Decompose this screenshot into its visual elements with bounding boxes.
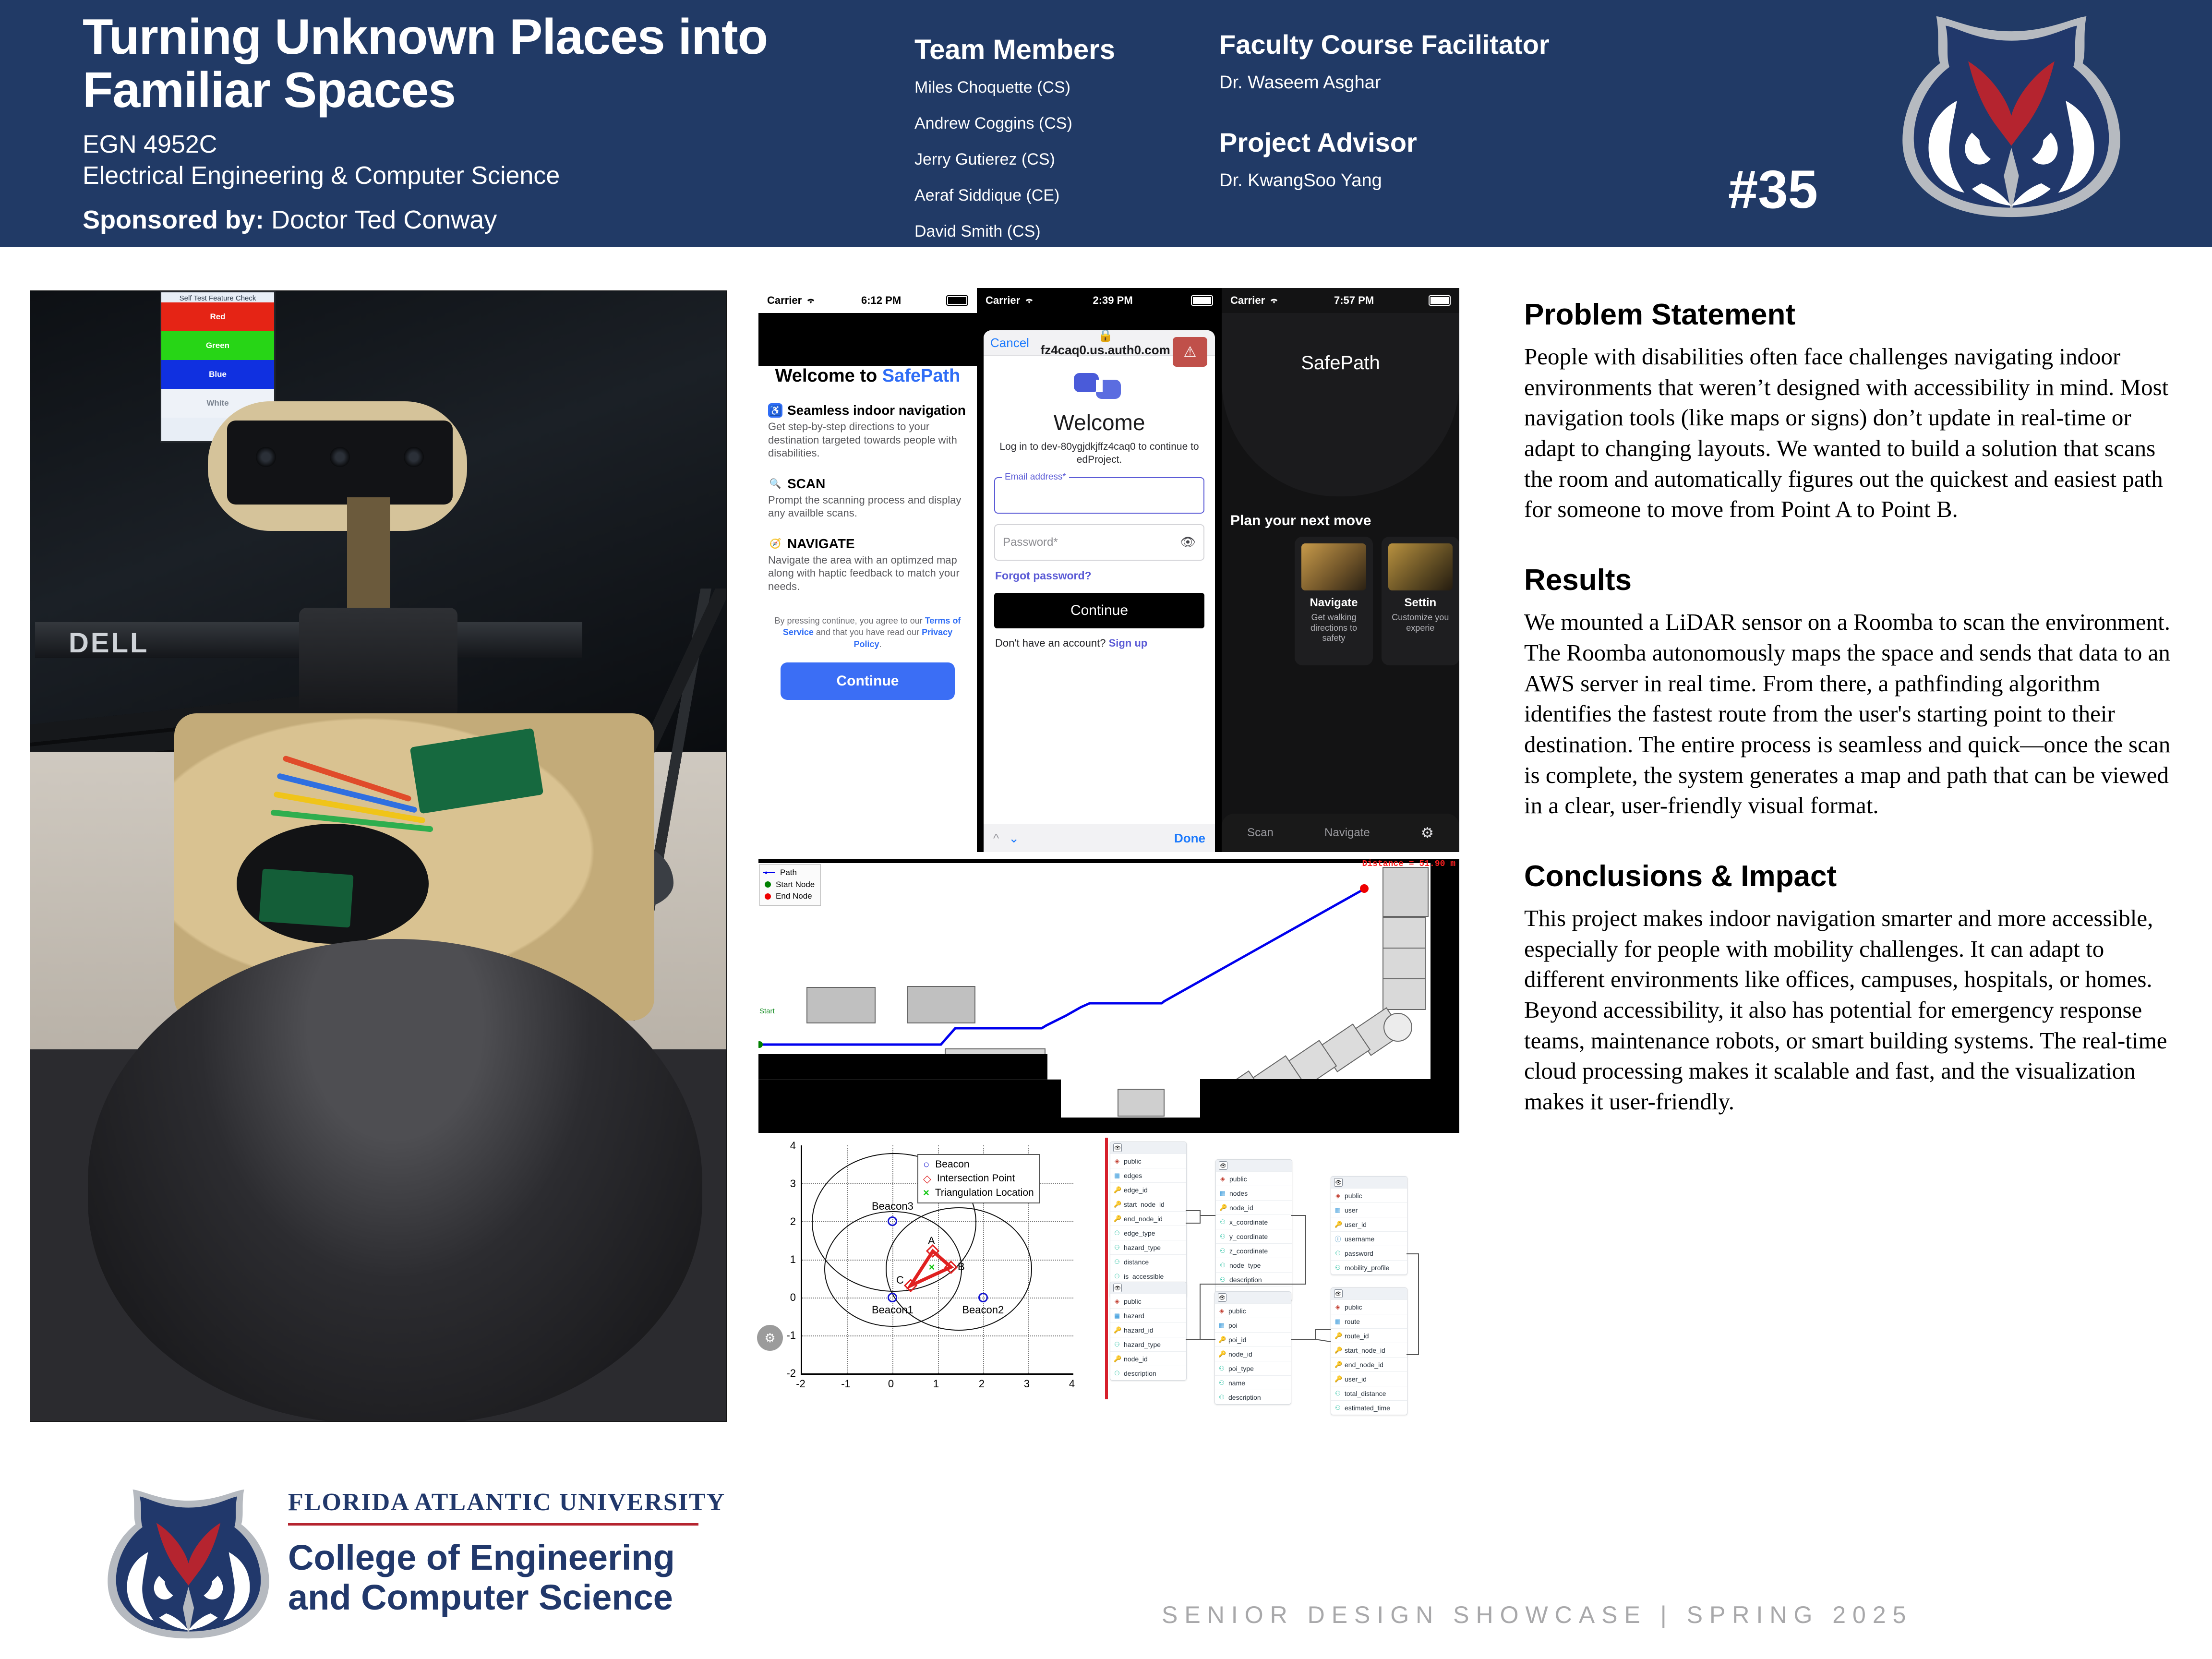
er-column: 🔑node_id xyxy=(1216,1200,1292,1214)
er-table-header: 👁 xyxy=(1110,1142,1186,1154)
self-test-title: Self Test Feature Check xyxy=(161,292,274,302)
feature-desc: Prompt the scanning process and display … xyxy=(768,493,967,520)
page-title: Turning Unknown Places into Familiar Spa… xyxy=(83,11,831,118)
feature-title: NAVIGATE xyxy=(787,536,855,552)
er-schema-row: ◈public xyxy=(1110,1154,1186,1168)
screenshot-tool-icon: ⚙ xyxy=(757,1325,783,1351)
battery-icon xyxy=(1429,295,1451,306)
signup-prompt: Don't have an account? xyxy=(995,637,1106,649)
er-column: ⚇hazard_type xyxy=(1110,1240,1186,1254)
er-schema-row: ◈public xyxy=(1331,1188,1407,1202)
tab-navigate[interactable]: Navigate xyxy=(1324,826,1370,840)
primary-key-icon: 🔑 xyxy=(1114,1186,1120,1194)
table-icon: ▦ xyxy=(1218,1322,1225,1329)
login-continue-button[interactable]: Continue xyxy=(994,593,1204,628)
ytick: 3 xyxy=(782,1178,796,1190)
foreign-key-icon: 🔑 xyxy=(1218,1350,1225,1358)
tab-scan[interactable]: Scan xyxy=(1247,826,1274,840)
feature-item: 🧭 NAVIGATE Navigate the area with an opt… xyxy=(768,536,967,593)
cancel-button[interactable]: Cancel xyxy=(990,336,1029,350)
title-block: Turning Unknown Places into Familiar Spa… xyxy=(83,11,831,235)
eye-icon[interactable]: 👁 xyxy=(1180,535,1196,550)
legend-item-triangulation: × Triangulation Location xyxy=(923,1186,1034,1200)
table-icon: ▦ xyxy=(1334,1206,1341,1214)
er-column: 🔑edge_id xyxy=(1110,1182,1186,1197)
sponsor-name: Doctor Ted Conway xyxy=(271,205,497,234)
team-member: Jerry Gutierez (CS) xyxy=(914,150,1193,169)
hide-icon[interactable]: 👁 xyxy=(1218,1293,1226,1302)
primary-key-icon: 🔑 xyxy=(1114,1326,1120,1334)
er-column: 🔑route_id xyxy=(1331,1328,1407,1343)
er-table-name-row: ▦user xyxy=(1331,1202,1407,1217)
start-node-swatch xyxy=(765,881,771,888)
er-column: ⚇edge_type xyxy=(1110,1226,1186,1240)
fau-owl-logo-icon xyxy=(1863,14,2160,221)
xtick: 4 xyxy=(1069,1378,1075,1390)
er-table-header: 👁 xyxy=(1331,1177,1407,1188)
section-heading: Results xyxy=(1524,563,2187,597)
field-icon: ⚇ xyxy=(1114,1341,1120,1348)
floorplan-path-visualization: Path Start Node End Node Start xyxy=(758,859,1459,1133)
er-schema-row: ◈public xyxy=(1216,1171,1292,1186)
table-icon: ▦ xyxy=(1114,1172,1120,1179)
tab-bar: Scan Navigate ⚙ xyxy=(1222,814,1459,852)
camera-mast xyxy=(347,497,390,622)
map-canvas: Path Start Node End Node Start xyxy=(758,863,1431,1118)
feature-item: ♿ Seamless indoor navigation Get step-by… xyxy=(768,403,967,460)
xtick: -1 xyxy=(841,1378,851,1390)
er-column: ⚇is_accessible xyxy=(1110,1269,1186,1283)
primary-key-icon: 🔑 xyxy=(1219,1204,1226,1212)
er-table-nodes: 👁 ◈public ▦nodes 🔑node_id ⚇x_coordinate … xyxy=(1215,1159,1292,1301)
er-column: 🔑start_node_id xyxy=(1110,1197,1186,1211)
legend-item-intersection: ◇ Intersection Point xyxy=(923,1172,1034,1186)
login-heading: Welcome xyxy=(984,409,1215,435)
legend-label: Start Node xyxy=(776,879,815,891)
er-schema-row: ◈public xyxy=(1110,1294,1186,1308)
accessibility-icon: ♿ xyxy=(768,403,782,418)
chevron-down-icon[interactable]: ⌄ xyxy=(1009,831,1019,846)
hide-icon[interactable]: 👁 xyxy=(1334,1289,1343,1298)
chart-legend: ○ Beacon ◇ Intersection Point × Triangul… xyxy=(917,1154,1040,1203)
terms-part-3: . xyxy=(879,639,882,649)
field-icon: ⚇ xyxy=(1218,1379,1225,1387)
email-label: Email address* xyxy=(1002,472,1069,482)
legend-label: Beacon xyxy=(935,1158,969,1171)
camera-lens-left xyxy=(256,447,276,467)
team-member: David Smith (CS) xyxy=(914,222,1193,241)
field-icon: ⚇ xyxy=(1219,1262,1226,1269)
xtick: 1 xyxy=(933,1378,939,1390)
home-screen: SafePath Plan your next move Navigate Ge… xyxy=(1222,313,1459,852)
chevron-up-icon[interactable]: ^ xyxy=(993,831,999,846)
table-icon: ▦ xyxy=(1114,1312,1120,1320)
legend-label: Path xyxy=(780,867,797,879)
primary-key-icon: 🔑 xyxy=(1334,1221,1341,1228)
email-field[interactable]: Email address* xyxy=(994,477,1204,514)
section-title: Plan your next move xyxy=(1230,513,1459,529)
er-schema-row: ◈public xyxy=(1331,1299,1407,1314)
showcase-label: SENIOR DESIGN SHOWCASE | SPRING 2025 xyxy=(1162,1601,1912,1629)
wifi-icon xyxy=(805,297,816,304)
depth-camera xyxy=(227,421,453,505)
continue-button[interactable]: Continue xyxy=(781,662,955,700)
er-column: ⚇distance xyxy=(1110,1254,1186,1269)
er-column: ⚇hazard_type xyxy=(1110,1337,1186,1351)
college-line-1: College of Engineering xyxy=(288,1538,725,1578)
status-left: Carrier xyxy=(986,294,1034,307)
field-icon: ⚇ xyxy=(1114,1273,1120,1280)
section-body: This project makes indoor navigation sma… xyxy=(1524,903,2187,1117)
app-title: SafePath xyxy=(1301,352,1380,374)
hide-icon[interactable]: 👁 xyxy=(1334,1178,1343,1187)
field-icon: ⚇ xyxy=(1114,1229,1120,1237)
er-table-name-row: ▦hazard xyxy=(1110,1308,1186,1322)
divider xyxy=(288,1523,698,1526)
settings-card-title: Settin xyxy=(1388,596,1453,610)
xtick: -2 xyxy=(796,1378,805,1390)
foreign-key-icon: 🔑 xyxy=(1334,1375,1341,1383)
triangulation-location-marker: × xyxy=(929,1261,935,1274)
status-bar: Carrier 2:39 PM xyxy=(977,288,1222,313)
primary-key-icon: 🔑 xyxy=(1334,1332,1341,1340)
er-column: ⚇description xyxy=(1110,1366,1186,1380)
feature-item: 🔍 SCAN Prompt the scanning process and d… xyxy=(768,476,967,520)
foreign-key-icon: 🔑 xyxy=(1334,1361,1341,1369)
lock-icon: 🔒 xyxy=(1097,330,1113,342)
er-column: ⓘusername xyxy=(1331,1231,1407,1246)
schema-icon: ◈ xyxy=(1334,1192,1341,1200)
navigate-card-image xyxy=(1301,543,1366,590)
terms-text: By pressing continue, you agree to our T… xyxy=(773,615,962,650)
field-icon: ⚇ xyxy=(1218,1365,1225,1372)
poster-header: Turning Unknown Places into Familiar Spa… xyxy=(0,0,2212,247)
settings-card-desc: Customize you experie xyxy=(1388,613,1453,633)
terms-part-2: and that you have read our xyxy=(814,627,922,637)
primary-key-icon: 🔑 xyxy=(1218,1336,1225,1344)
phone-screenshot-onboarding: Carrier 6:12 PM Welcome to SafePath ♿ Se… xyxy=(758,288,977,852)
action-cards: Navigate Get walking directions to safet… xyxy=(1222,537,1459,665)
camera-lens-right xyxy=(404,447,424,467)
er-column: 🔑node_id xyxy=(1215,1346,1291,1361)
field-icon: ⚇ xyxy=(1218,1394,1225,1401)
feature-desc: Get step-by-step directions to your dest… xyxy=(768,420,967,460)
ytick: -2 xyxy=(782,1367,796,1380)
er-column: ⚇y_coordinate xyxy=(1216,1229,1292,1243)
field-icon: ⚇ xyxy=(1219,1233,1226,1240)
triangulation-chart: Beacon1 Beacon2 Beacon3 A B C × ○ Beacon… xyxy=(758,1138,1090,1411)
university-name: FLORIDA ATLANTIC UNIVERSITY xyxy=(288,1488,725,1516)
map-void-right xyxy=(1200,1079,1431,1118)
beacon-1-marker xyxy=(888,1293,897,1302)
advisor-name: Dr. KwangSoo Yang xyxy=(1219,170,1603,191)
field-icon: ⚇ xyxy=(1114,1244,1120,1251)
wifi-icon xyxy=(1269,297,1279,304)
title-line-2: Familiar Spaces xyxy=(83,64,831,117)
status-left: Carrier xyxy=(767,294,816,307)
team-member: Aeraf Siddique (CE) xyxy=(914,186,1193,205)
phone-screenshot-home: Carrier 7:57 PM SafePath Plan your next … xyxy=(1222,288,1459,852)
er-column: ⚇estimated_time xyxy=(1331,1400,1407,1415)
er-schema-row: ◈public xyxy=(1215,1303,1291,1318)
status-bar: Carrier 6:12 PM xyxy=(758,288,977,313)
legend-label: Intersection Point xyxy=(937,1172,1015,1185)
er-column: 🔑hazard_id xyxy=(1110,1322,1186,1337)
welcome-prefix: Welcome to xyxy=(775,366,882,386)
field-icon: ⚇ xyxy=(1114,1258,1120,1266)
navigate-card-desc: Get walking directions to safety xyxy=(1301,613,1366,644)
er-table-edges: 👁 ◈public ▦edges 🔑edge_id 🔑start_node_id… xyxy=(1110,1142,1187,1298)
password-field[interactable]: Password* 👁 xyxy=(994,524,1204,561)
er-column: 🔑end_node_id xyxy=(1331,1357,1407,1371)
welcome-heading: Welcome to SafePath xyxy=(758,366,977,386)
er-column: ⚇name xyxy=(1215,1375,1291,1390)
status-bar: Carrier 7:57 PM xyxy=(1222,288,1459,313)
er-column: ⚇description xyxy=(1216,1272,1292,1286)
field-icon: ⚇ xyxy=(1334,1390,1341,1397)
er-column: ⚇description xyxy=(1215,1390,1291,1404)
er-table-header: 👁 xyxy=(1216,1160,1292,1171)
app-hero: SafePath xyxy=(1222,313,1459,496)
schema-icon: ◈ xyxy=(1114,1298,1120,1305)
er-table-name-row: ▦poi xyxy=(1215,1318,1291,1332)
xtick: 2 xyxy=(979,1378,985,1390)
er-column: ⚇node_type xyxy=(1216,1258,1292,1272)
done-button[interactable]: Done xyxy=(1174,831,1205,846)
xtick: 3 xyxy=(1024,1378,1030,1390)
point-c-label: C xyxy=(896,1274,904,1286)
feature-title-row: ♿ Seamless indoor navigation xyxy=(768,403,967,418)
beacon-1-label: Beacon1 xyxy=(872,1304,914,1316)
navigate-card-title: Navigate xyxy=(1301,596,1366,610)
field-icon: ⚇ xyxy=(1219,1247,1226,1255)
college-line-2: and Computer Science xyxy=(288,1578,725,1618)
beacon-swatch: ○ xyxy=(923,1157,929,1172)
signup-row: Don't have an account? Sign up xyxy=(995,637,1215,649)
field-icon: ⚇ xyxy=(1334,1250,1341,1257)
er-table-name-row: ▦edges xyxy=(1110,1168,1186,1182)
er-column: 🔑poi_id xyxy=(1215,1332,1291,1346)
status-time: 2:39 PM xyxy=(1093,294,1133,307)
signup-link[interactable]: Sign up xyxy=(1109,637,1148,649)
field-icon: ⚇ xyxy=(1114,1370,1120,1377)
er-column: 🔑user_id xyxy=(1331,1217,1407,1231)
section-body: We mounted a LiDAR sensor on a Roomba to… xyxy=(1524,607,2187,821)
warning-icon: ⚠ xyxy=(1173,337,1207,367)
terms-part-1: By pressing continue, you agree to our xyxy=(775,616,925,625)
footer-wordmark: FLORIDA ATLANTIC UNIVERSITY College of E… xyxy=(288,1488,725,1618)
er-table-header: 👁 xyxy=(1110,1282,1186,1294)
section-conclusions: Conclusions & Impact This project makes … xyxy=(1524,859,2187,1117)
legend-item-beacon: ○ Beacon xyxy=(923,1157,1034,1172)
feature-title-row: 🔍 SCAN xyxy=(768,476,967,492)
url-text: 🔒 fz4caq0.us.auth0.com xyxy=(1036,330,1175,358)
auth0-logo-icon xyxy=(1073,372,1126,401)
beacon-3-label: Beacon3 xyxy=(872,1200,914,1213)
beacon-2-marker xyxy=(978,1293,988,1302)
keyboard-accessory-bar: ^ ⌄ Done xyxy=(984,824,1215,852)
legend-item-end: End Node xyxy=(763,890,815,902)
course-code: EGN 4952C xyxy=(83,129,831,160)
er-table-header: 👁 xyxy=(1215,1292,1291,1303)
feature-title: SCAN xyxy=(787,476,825,492)
navigate-card[interactable]: Navigate Get walking directions to safet… xyxy=(1295,537,1372,665)
onboarding-screen: Welcome to SafePath ♿ Seamless indoor na… xyxy=(758,366,977,852)
er-column: ⚇mobility_profile xyxy=(1331,1260,1407,1274)
er-table-user: 👁 ◈public ▦user 🔑user_id ⓘusername ⚇pass… xyxy=(1331,1176,1407,1275)
field-icon: ⚇ xyxy=(1334,1404,1341,1412)
team-members-column: Team Members Miles Choquette (CS) Andrew… xyxy=(914,34,1193,258)
point-b-label: B xyxy=(958,1261,965,1273)
hide-icon[interactable]: 👁 xyxy=(1113,1143,1122,1152)
foreign-key-icon: 🔑 xyxy=(1114,1215,1120,1223)
carrier-label: Carrier xyxy=(767,294,802,307)
er-table-hazard: 👁 ◈public ▦hazard 🔑hazard_id ⚇hazard_typ… xyxy=(1110,1282,1187,1381)
schema-accent-bar xyxy=(1105,1138,1108,1399)
battery-icon xyxy=(946,295,968,306)
status-time: 7:57 PM xyxy=(1334,294,1374,307)
legend-label: Triangulation Location xyxy=(935,1186,1034,1200)
password-placeholder: Password* xyxy=(1003,536,1058,549)
er-column: 🔑user_id xyxy=(1331,1371,1407,1386)
foreign-key-icon: 🔑 xyxy=(1334,1346,1341,1354)
database-schema-diagram: 👁 ◈public ▦edges 🔑edge_id 🔑start_node_id… xyxy=(1104,1138,1450,1411)
ytick: 0 xyxy=(782,1291,796,1304)
xtick: 0 xyxy=(888,1378,894,1390)
app-brand-name: SafePath xyxy=(882,366,961,386)
table-icon: ▦ xyxy=(1334,1318,1341,1325)
section-body: People with disabilities often face chal… xyxy=(1524,341,2187,525)
hide-icon[interactable]: 👁 xyxy=(1219,1161,1227,1170)
er-column: 🔑end_node_id xyxy=(1110,1211,1186,1226)
title-line-1: Turning Unknown Places into xyxy=(83,11,831,64)
field-icon: ⚇ xyxy=(1219,1218,1226,1226)
robot-hardware-photo: DELL Self Test Feature Check Red Green B… xyxy=(30,290,727,1422)
auth-web-sheet: Cancel 🔒 fz4caq0.us.auth0.com ☰ ↻ ⚠ xyxy=(984,330,1215,852)
er-table-header: 👁 xyxy=(1331,1288,1407,1299)
sponsor-label: Sponsored by: xyxy=(83,205,264,234)
section-results: Results We mounted a LiDAR sensor on a R… xyxy=(1524,563,2187,821)
roomba-base xyxy=(88,939,702,1422)
intersection-swatch: ◇ xyxy=(923,1172,931,1186)
section-problem-statement: Problem Statement People with disabiliti… xyxy=(1524,298,2187,525)
end-node-swatch xyxy=(765,893,771,900)
er-column: ⚇x_coordinate xyxy=(1216,1214,1292,1229)
self-test-bar-green: Green xyxy=(161,331,274,360)
index-icon: ⓘ xyxy=(1334,1234,1341,1243)
facilitator-heading: Faculty Course Facilitator xyxy=(1219,29,1603,60)
er-column: ⚇z_coordinate xyxy=(1216,1243,1292,1258)
field-icon: ⚇ xyxy=(1334,1264,1341,1272)
feature-title-row: 🧭 NAVIGATE xyxy=(768,536,967,552)
schema-icon: ◈ xyxy=(1334,1303,1341,1311)
er-table-name-row: ▦nodes xyxy=(1216,1186,1292,1200)
start-label: Start xyxy=(759,1007,775,1015)
settings-card-image xyxy=(1388,543,1453,590)
section-heading: Conclusions & Impact xyxy=(1524,859,2187,893)
foreign-key-icon: 🔑 xyxy=(1114,1201,1120,1208)
foreign-key-icon: 🔑 xyxy=(1114,1355,1120,1363)
ytick: 4 xyxy=(782,1140,796,1152)
legend-item-start: Start Node xyxy=(763,879,815,891)
faculty-column: Faculty Course Facilitator Dr. Waseem As… xyxy=(1219,29,1603,225)
wifi-icon xyxy=(1024,297,1034,304)
login-subtitle: Log in to dev-80ygjdkjffz4caq0 to contin… xyxy=(998,440,1201,467)
field-icon: ⚇ xyxy=(1219,1276,1226,1284)
schema-icon: ◈ xyxy=(1218,1307,1225,1315)
ytick: 1 xyxy=(782,1253,796,1266)
triangulation-swatch: × xyxy=(923,1186,929,1200)
ytick: 2 xyxy=(782,1215,796,1228)
facilitator-name: Dr. Waseem Asghar xyxy=(1219,72,1603,93)
carrier-label: Carrier xyxy=(1230,294,1265,307)
gear-icon[interactable]: ⚙ xyxy=(1421,825,1434,842)
carrier-label: Carrier xyxy=(986,294,1020,307)
camera-lens-center xyxy=(330,447,350,467)
er-column: ⚇total_distance xyxy=(1331,1386,1407,1400)
dell-brand-label: DELL xyxy=(69,627,149,659)
er-column: 🔑node_id xyxy=(1110,1351,1186,1366)
feature-desc: Navigate the area with an optimzed map a… xyxy=(768,553,967,593)
poster-number-badge: #35 xyxy=(1728,158,1818,220)
self-test-bar-red: Red xyxy=(161,302,274,331)
url-value: fz4caq0.us.auth0.com xyxy=(1041,343,1170,357)
team-member: Miles Choquette (CS) xyxy=(914,78,1193,97)
content-column: Problem Statement People with disabiliti… xyxy=(1524,298,2187,1155)
lidar-sensor xyxy=(299,608,457,718)
login-screen: Cancel 🔒 fz4caq0.us.auth0.com ☰ ↻ ⚠ xyxy=(977,313,1222,852)
status-time: 6:12 PM xyxy=(861,294,901,307)
er-table-name-row: ▦route xyxy=(1331,1314,1407,1328)
battery-icon xyxy=(1191,295,1213,306)
team-member: Andrew Coggins (CS) xyxy=(914,114,1193,133)
status-left: Carrier xyxy=(1230,294,1279,307)
college-name: College of Engineering and Computer Scie… xyxy=(288,1538,725,1618)
magnifier-icon: 🔍 xyxy=(768,477,782,491)
er-column: 🔑start_node_id xyxy=(1331,1343,1407,1357)
er-table-route: 👁 ◈public ▦route 🔑route_id 🔑start_node_i… xyxy=(1331,1287,1407,1415)
distance-readout: Distance = 51.90 m xyxy=(1362,859,1455,869)
point-a-label: A xyxy=(928,1235,935,1247)
schema-icon: ◈ xyxy=(1219,1175,1226,1183)
team-heading: Team Members xyxy=(914,34,1193,66)
hide-icon[interactable]: 👁 xyxy=(1113,1284,1122,1292)
schema-icon: ◈ xyxy=(1114,1157,1120,1165)
phone-screenshot-login: Carrier 2:39 PM Cancel 🔒 fz4caq0.us.auth… xyxy=(977,288,1222,852)
er-table-poi: 👁 ◈public ▦poi 🔑poi_id 🔑node_id ⚇poi_typ… xyxy=(1214,1291,1291,1405)
department-name: Electrical Engineering & Computer Scienc… xyxy=(83,160,831,192)
legend-label: End Node xyxy=(776,890,812,902)
settings-card[interactable]: Settin Customize you experie xyxy=(1382,537,1459,665)
chart-plot-area: Beacon1 Beacon2 Beacon3 A B C × ○ Beacon… xyxy=(801,1145,1073,1375)
app-screenshots-strip: Carrier 6:12 PM Welcome to SafePath ♿ Se… xyxy=(758,288,1459,852)
table-icon: ▦ xyxy=(1219,1190,1226,1197)
er-column: ⚇password xyxy=(1331,1246,1407,1260)
map-legend: Path Start Node End Node xyxy=(759,864,821,906)
sponsor-line: Sponsored by: Doctor Ted Conway xyxy=(83,205,831,235)
er-column: ⚇poi_type xyxy=(1215,1361,1291,1375)
beacon-2-label: Beacon2 xyxy=(962,1304,1004,1316)
circuit-board-lower xyxy=(259,869,353,928)
beacon-3-marker xyxy=(888,1216,897,1226)
feature-title: Seamless indoor navigation xyxy=(787,403,966,418)
ytick: -1 xyxy=(782,1329,796,1342)
compass-icon: 🧭 xyxy=(768,537,782,551)
self-test-bar-blue: Blue xyxy=(161,360,274,389)
forgot-password-link[interactable]: Forgot password? xyxy=(995,569,1215,582)
legend-item-path: Path xyxy=(763,867,815,879)
section-heading: Problem Statement xyxy=(1524,298,2187,332)
